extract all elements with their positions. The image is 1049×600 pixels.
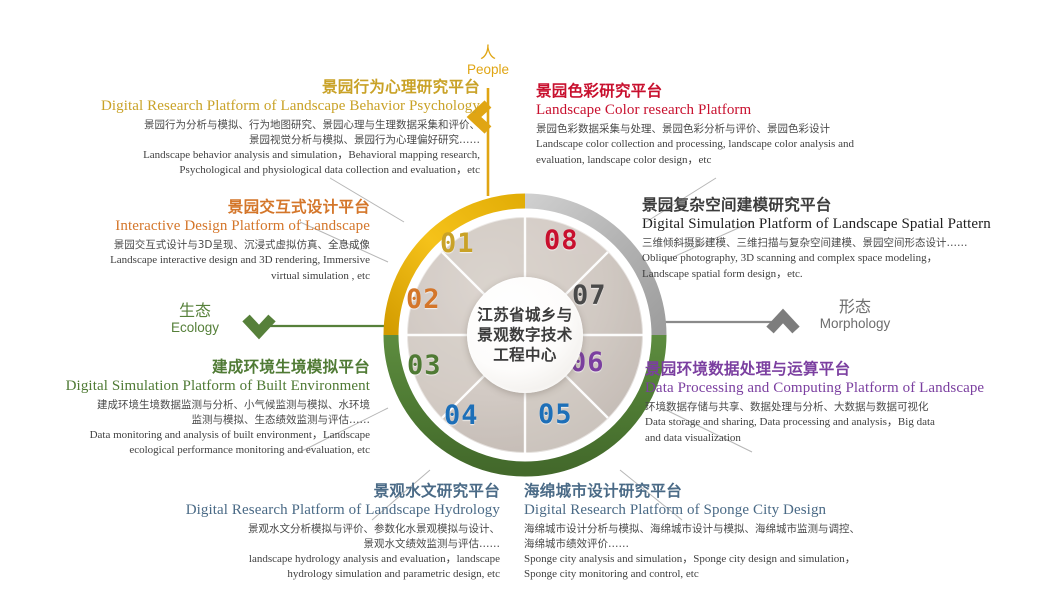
center-title: 江苏省城乡与 景观数字技术 工程中心	[477, 305, 572, 365]
platform-block-04[interactable]: 景观水文研究平台 Digital Research Platform of La…	[128, 482, 500, 583]
wheel-number-02[interactable]: 02	[406, 284, 441, 315]
platform-02-title-cn: 景园交互式设计平台	[48, 198, 370, 217]
wheel-number-08[interactable]: 08	[544, 225, 579, 256]
platform-block-06[interactable]: 景园环境数据处理与运算平台 Data Processing and Comput…	[645, 360, 1037, 446]
platform-05-desc-en: Sponge city analysis and simulation，Spon…	[524, 552, 994, 583]
platform-04-desc-cn: 景观水文分析模拟与评价、参数化水景观模拟与设计、 景观水文绩效监测与评估……	[128, 522, 500, 552]
platform-05-title-en: Digital Research Platform of Sponge City…	[524, 501, 994, 519]
platform-06-desc-cn: 环境数据存储与共享、数据处理与分析、大数据与数据可视化	[645, 400, 1037, 415]
platform-04-title-cn: 景观水文研究平台	[128, 482, 500, 501]
wheel-number-04[interactable]: 04	[444, 400, 479, 431]
platform-block-03[interactable]: 建成环境生境模拟平台 Digital Simulation Platform o…	[28, 358, 370, 459]
wheel-number-05[interactable]: 05	[538, 399, 573, 430]
platform-01-title-en: Digital Research Platform of Landscape B…	[48, 97, 480, 115]
wheel-number-01[interactable]: 01	[440, 228, 475, 259]
chevron-down-icon	[246, 318, 272, 332]
platform-01-desc-cn: 景园行为分析与模拟、行为地图研究、景园心理与生理数据采集和评价、 景园视觉分析与…	[48, 118, 480, 148]
axis-people-en: People	[452, 62, 524, 77]
axis-morphology-line	[658, 316, 796, 330]
platform-07-title-en: Digital Simulation Platform of Landscape…	[642, 215, 1042, 233]
platform-block-07[interactable]: 景园复杂空间建模研究平台 Digital Simulation Platform…	[642, 196, 1042, 282]
axis-ecology-line	[246, 318, 392, 332]
platform-03-desc-cn: 建成环境生境数据监测与分析、小气候监测与模拟、水环境 监测与模拟、生态绩效监测与…	[28, 398, 370, 428]
axis-label-ecology: 生态 Ecology	[152, 302, 238, 335]
platform-03-title-en: Digital Simulation Platform of Built Env…	[28, 377, 370, 395]
platform-block-08[interactable]: 景园色彩研究平台 Landscape Color research Platfo…	[536, 82, 936, 168]
platform-08-title-cn: 景园色彩研究平台	[536, 82, 936, 101]
axis-label-morphology: 形态 Morphology	[800, 298, 910, 331]
wheel-number-07[interactable]: 07	[572, 280, 607, 311]
axis-people-cn: 人	[452, 44, 524, 62]
platform-05-title-cn: 海绵城市设计研究平台	[524, 482, 994, 501]
platform-02-title-en: Interactive Design Platform of Landscape	[48, 217, 370, 235]
platform-06-title-cn: 景园环境数据处理与运算平台	[645, 360, 1037, 379]
platform-wheel: 江苏省城乡与 景观数字技术 工程中心 01 08 02 07 03 06 04 …	[382, 192, 668, 478]
platform-02-desc-cn: 景园交互式设计与3D呈现、沉浸式虚拟仿真、全息成像	[48, 238, 370, 253]
platform-07-desc-cn: 三维倾斜摄影建模、三维扫描与复杂空间建模、景园空间形态设计……	[642, 236, 1042, 251]
platform-04-desc-en: landscape hydrology analysis and evaluat…	[128, 552, 500, 583]
axis-ecology-en: Ecology	[152, 320, 238, 335]
platform-07-desc-en: Oblique photography, 3D scanning and com…	[642, 251, 1042, 282]
platform-block-02[interactable]: 景园交互式设计平台 Interactive Design Platform of…	[48, 198, 370, 284]
platform-04-title-en: Digital Research Platform of Landscape H…	[128, 501, 500, 519]
wheel-hub: 江苏省城乡与 景观数字技术 工程中心	[467, 277, 583, 393]
axis-morphology-cn: 形态	[800, 298, 910, 316]
axis-ecology-cn: 生态	[152, 302, 238, 320]
platform-07-title-cn: 景园复杂空间建模研究平台	[642, 196, 1042, 215]
wheel-number-03[interactable]: 03	[407, 350, 442, 381]
platform-05-desc-cn: 海绵城市设计分析与模拟、海绵城市设计与模拟、海绵城市监测与调控、 海绵城市绩效评…	[524, 522, 994, 552]
platform-08-title-en: Landscape Color research Platform	[536, 101, 936, 119]
platform-block-05[interactable]: 海绵城市设计研究平台 Digital Research Platform of …	[524, 482, 994, 583]
platform-03-title-cn: 建成环境生境模拟平台	[28, 358, 370, 377]
diagram-canvas: 江苏省城乡与 景观数字技术 工程中心 01 08 02 07 03 06 04 …	[0, 0, 1049, 600]
platform-06-title-en: Data Processing and Computing Platform o…	[645, 379, 1037, 397]
platform-06-desc-en: Data storage and sharing, Data processin…	[645, 415, 1037, 446]
platform-08-desc-en: Landscape color collection and processin…	[536, 137, 936, 168]
platform-08-desc-cn: 景园色彩数据采集与处理、景园色彩分析与评价、景园色彩设计	[536, 122, 936, 137]
platform-01-desc-en: Landscape behavior analysis and simulati…	[48, 148, 480, 179]
platform-03-desc-en: Data monitoring and analysis of built en…	[28, 428, 370, 459]
chevron-up-icon	[770, 316, 796, 330]
axis-morphology-en: Morphology	[800, 316, 910, 331]
platform-02-desc-en: Landscape interactive design and 3D rend…	[48, 253, 370, 284]
axis-label-people: 人 People	[452, 44, 524, 77]
platform-block-01[interactable]: 景园行为心理研究平台 Digital Research Platform of …	[48, 78, 480, 179]
platform-01-title-cn: 景园行为心理研究平台	[48, 78, 480, 97]
